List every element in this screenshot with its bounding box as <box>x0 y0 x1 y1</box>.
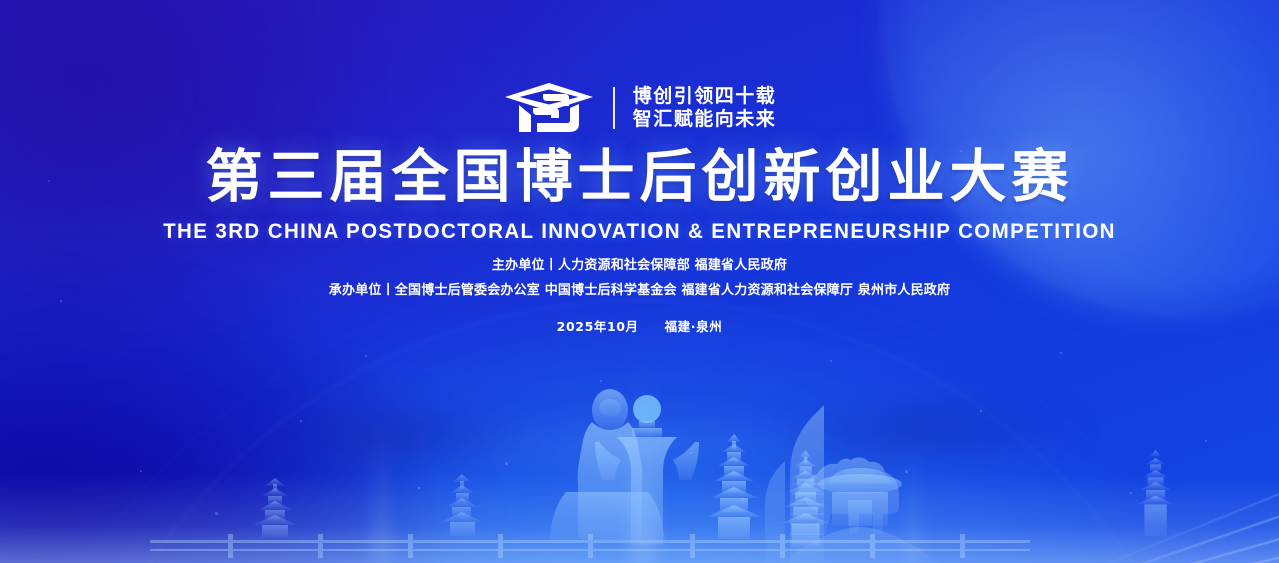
page-title-chinese: 第三届全国博士后创新创业大赛 <box>0 148 1279 208</box>
event-date-location: 2025年10月 福建·泉州 <box>0 316 1279 335</box>
logo-lockup: 博创引领四十载 智汇赋能向未来 <box>0 82 1279 134</box>
coorganizer-line: 承办单位丨全国博士后管委会办公室 中国博士后科学基金会 福建省人力资源和社会保障… <box>0 284 1279 297</box>
event-banner: 博创引领四十载 智汇赋能向未来 第三届全国博士后创新创业大赛 THE 3RD C… <box>0 0 1279 563</box>
logo-divider <box>613 87 615 129</box>
logo-slogan-line-2: 智汇赋能向未来 <box>633 110 777 130</box>
page-title-english: THE 3RD CHINA POSTDOCTORAL INNOVATION & … <box>29 219 1250 244</box>
organizer-block: 主办单位丨人力资源和社会保障部 福建省人民政府 承办单位丨全国博士后管委会办公室… <box>0 259 1279 309</box>
graduation-cap-emblem-icon <box>503 82 595 134</box>
banner-content: 博创引领四十载 智汇赋能向未来 第三届全国博士后创新创业大赛 THE 3RD C… <box>0 0 1279 563</box>
event-location: 福建·泉州 <box>665 319 723 334</box>
logo-slogan: 博创引领四十载 智汇赋能向未来 <box>633 87 777 130</box>
logo-slogan-line-1: 博创引领四十载 <box>633 87 777 107</box>
host-organizer-line: 主办单位丨人力资源和社会保障部 福建省人民政府 <box>0 259 1279 272</box>
event-date: 2025年10月 <box>557 319 639 334</box>
